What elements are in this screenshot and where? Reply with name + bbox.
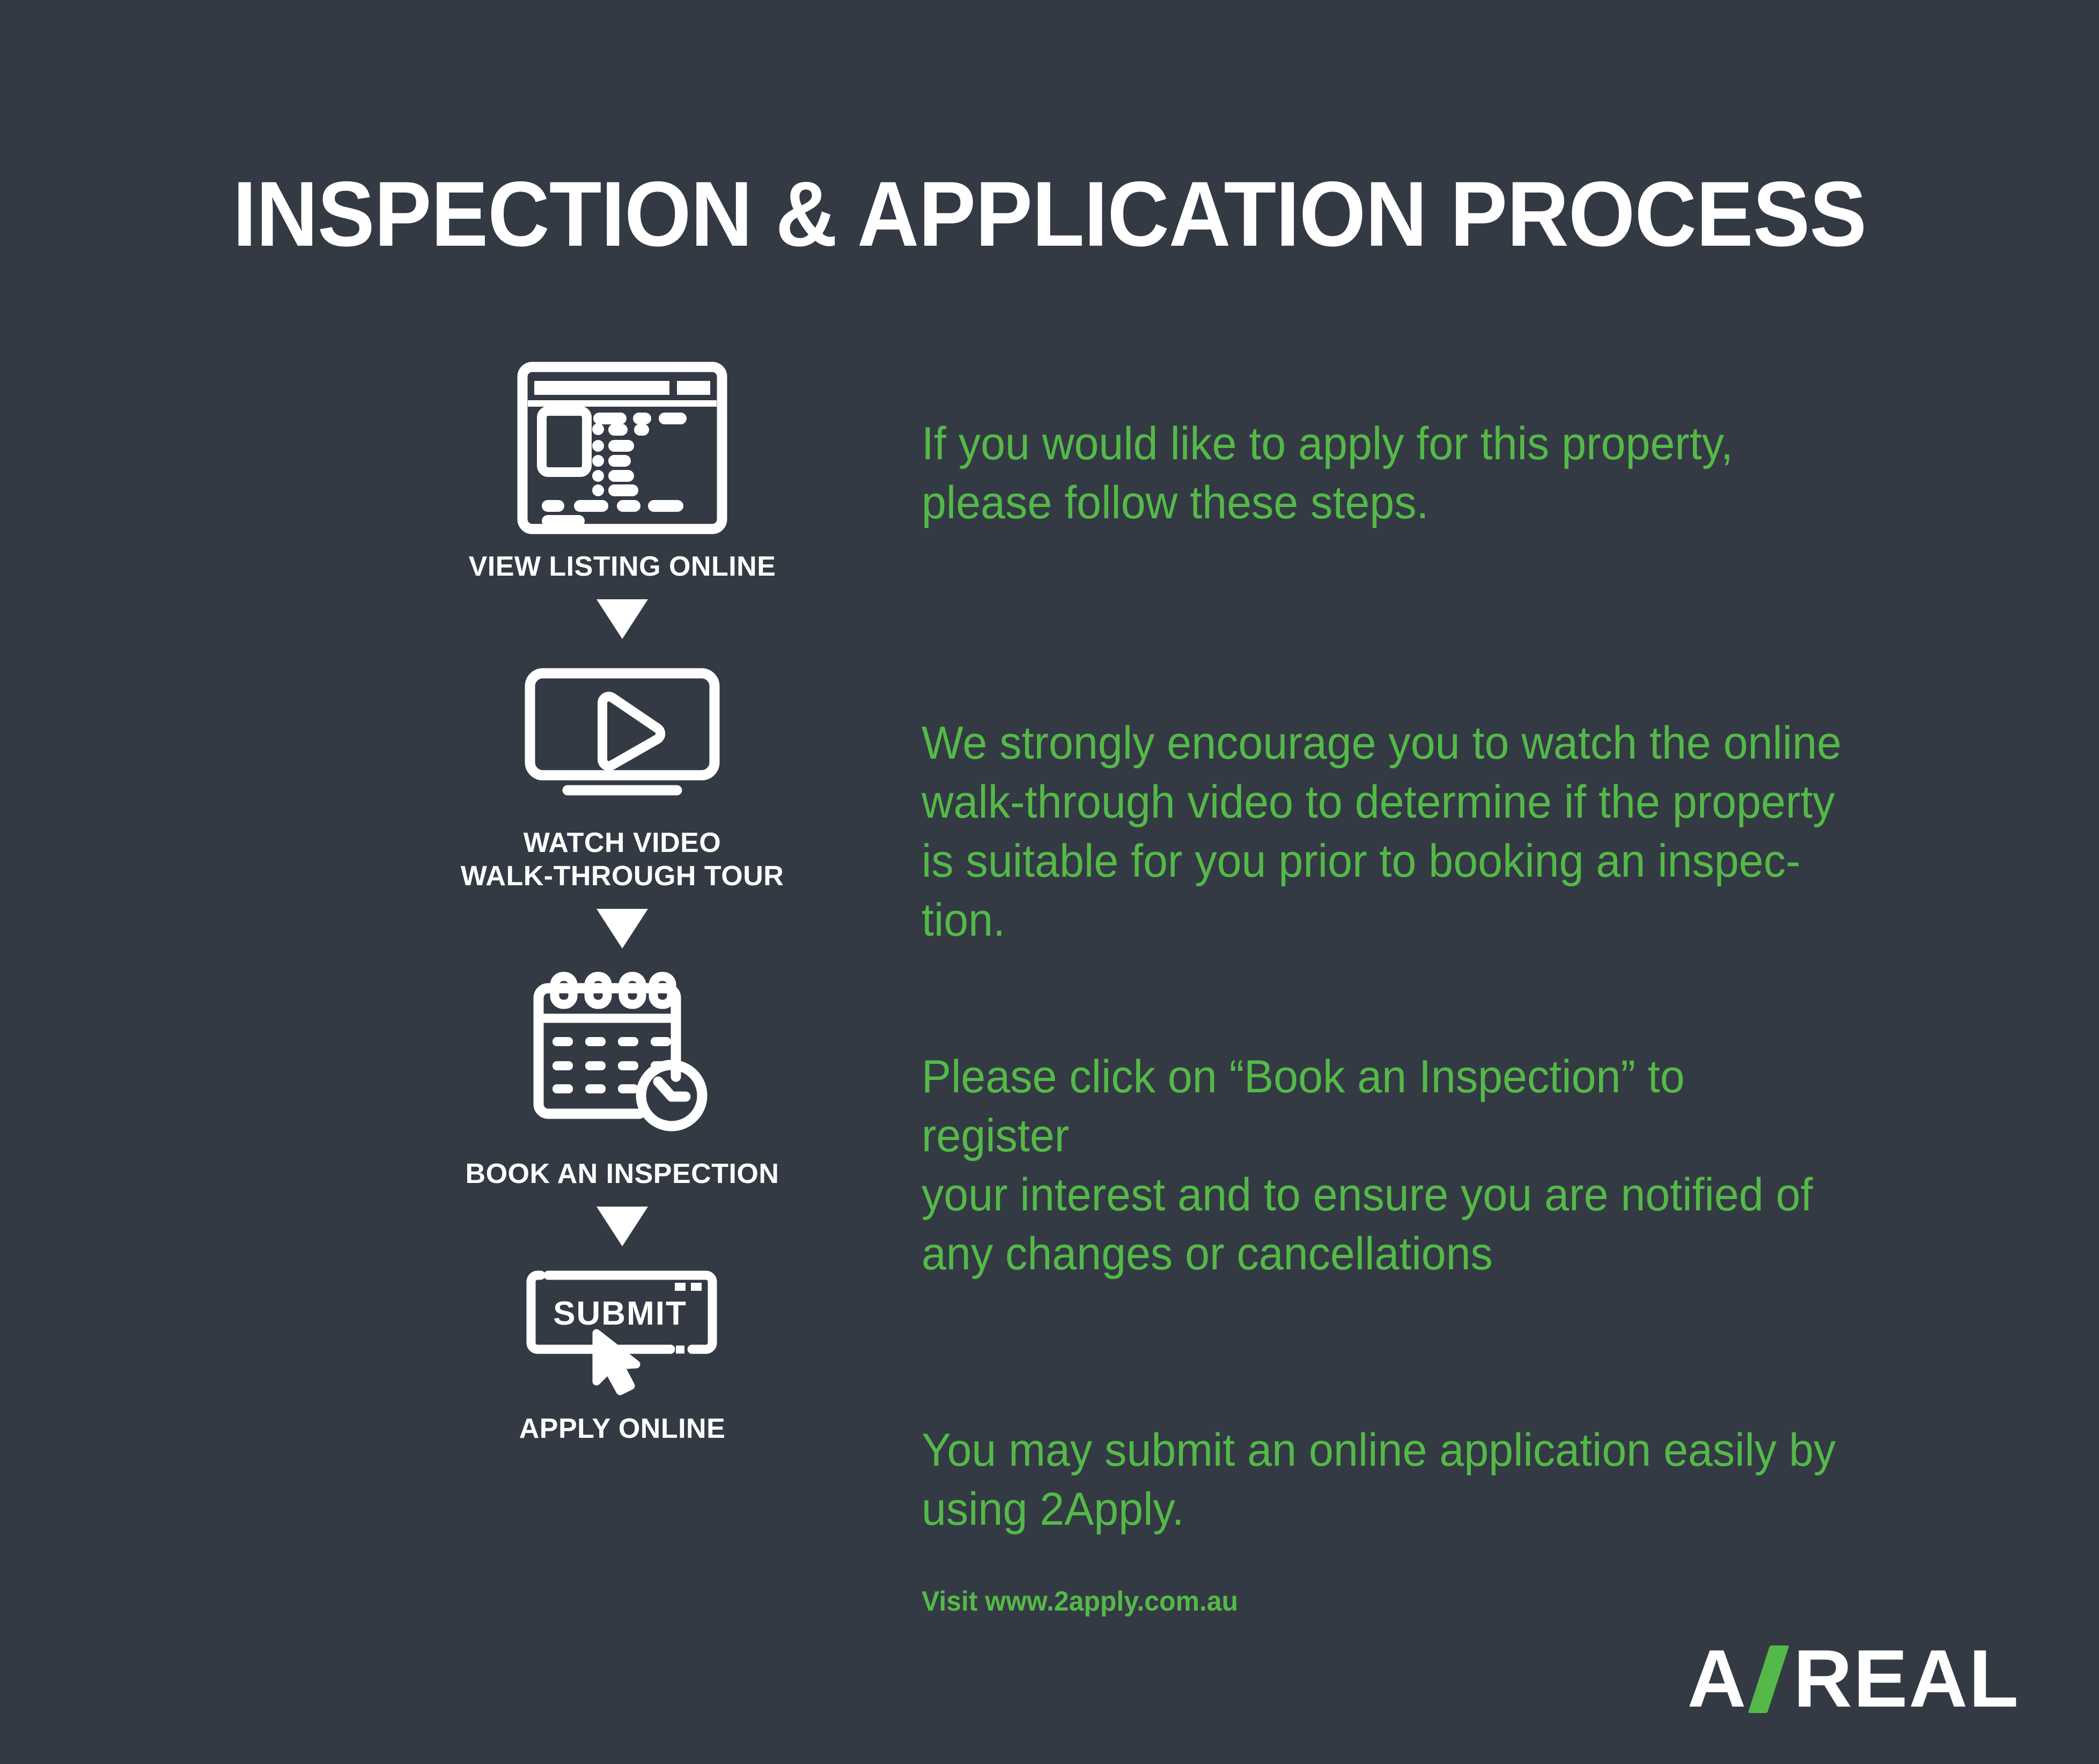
submit-icon-text: SUBMIT: [553, 1295, 687, 1332]
step-label: VIEW LISTING ONLINE: [408, 550, 837, 583]
submit-button-cursor-icon: SUBMIT: [408, 1265, 837, 1399]
paragraph-video: We strongly encourage you to watch the o…: [922, 714, 1843, 950]
logo-word-real: REAL: [1793, 1632, 2020, 1726]
listing-window-icon: [408, 359, 837, 536]
paragraph-inspection: Please click on “Book an Inspection” to …: [922, 1047, 1843, 1283]
flow-arrow-down-icon-2: [408, 909, 837, 949]
paragraph-apply: You may submit an online application eas…: [922, 1421, 1843, 1539]
step-apply-online: SUBMIT APPLY ONLINE: [408, 1265, 837, 1445]
calendar-clock-icon: [408, 967, 837, 1144]
logo-slash-icon: [1748, 1645, 1789, 1713]
brand-logo: A REAL: [1687, 1632, 2020, 1726]
paragraph-intro: If you would like to apply for this prop…: [922, 414, 1843, 532]
flow-arrow-down-icon-3: [408, 1207, 837, 1246]
step-label: APPLY ONLINE: [408, 1413, 837, 1445]
step-book-an-inspection: BOOK AN INSPECTION: [408, 967, 837, 1190]
video-play-monitor-icon: [408, 657, 837, 813]
visit-url-line[interactable]: Visit www.2apply.com.au: [922, 1585, 1843, 1618]
page-title: INSPECTION & APPLICATION PROCESS: [73, 161, 2026, 267]
infographic-canvas: INSPECTION & APPLICATION PROCESS: [0, 0, 2099, 1764]
logo-letter-a: A: [1687, 1632, 1747, 1726]
step-label: BOOK AN INSPECTION: [408, 1158, 837, 1190]
step-flow-column: VIEW LISTING ONLINE WATCH VIDEO WALK-THR…: [408, 359, 837, 1446]
step-watch-video-walkthrough: WATCH VIDEO WALK-THROUGH TOUR: [408, 657, 837, 893]
flow-arrow-down-icon-1: [408, 599, 837, 639]
step-view-listing-online: VIEW LISTING ONLINE: [408, 359, 837, 583]
step-label: WATCH VIDEO WALK-THROUGH TOUR: [408, 827, 837, 893]
